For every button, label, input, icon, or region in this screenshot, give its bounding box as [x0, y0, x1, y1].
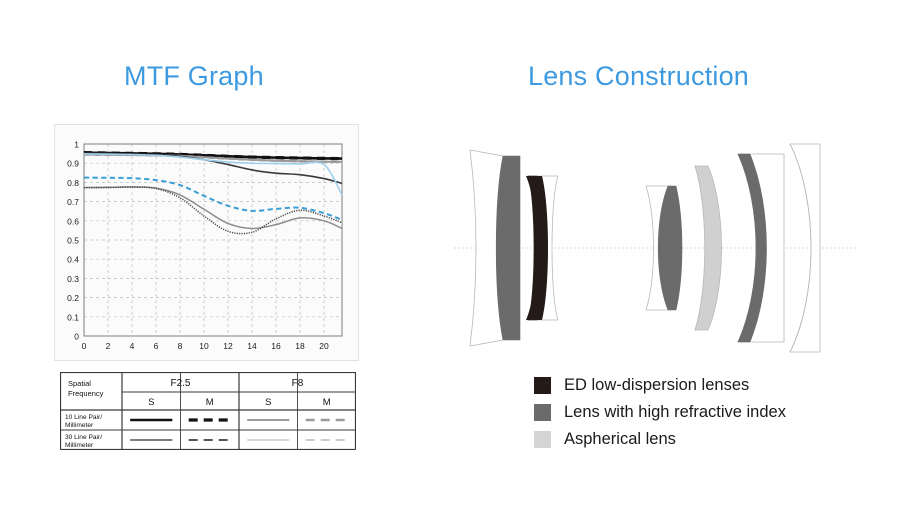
square-swatch-dark-icon [534, 377, 551, 394]
legend-sub-header: M [206, 397, 214, 408]
slide-canvas: MTF Graph Lens Construction 00.10.20.30.… [0, 0, 900, 506]
y-tick-label: 0.1 [67, 312, 79, 322]
x-tick-label: 14 [247, 341, 257, 351]
square-swatch-mid-icon [534, 404, 551, 421]
y-tick-label: 0.4 [67, 255, 79, 265]
x-tick-label: 12 [223, 341, 233, 351]
lens-element-1-high-refractive [470, 150, 520, 346]
legend-row-label: 10 Line Pair/ [65, 414, 102, 421]
legend-item: Aspherical lens [534, 428, 786, 450]
chart-gridlines [84, 144, 342, 336]
legend-row-label: Millimeter [65, 442, 94, 449]
legend-row-label: 30 Line Pair/ [65, 434, 102, 441]
legend-group-header: F2.5 [170, 378, 190, 389]
x-tick-label: 2 [106, 341, 111, 351]
chart-series-group [84, 153, 342, 234]
y-tick-label: 0.6 [67, 216, 79, 226]
page-title-mtf-graph: MTF Graph [124, 61, 264, 92]
mtf-chart-svg: 00.10.20.30.40.50.60.70.80.91 0246810121… [54, 124, 359, 361]
chart-series-line [84, 187, 342, 234]
x-tick-label: 20 [319, 341, 329, 351]
legend-item: ED low-dispersion lenses [534, 374, 786, 396]
legend-row-label: Millimeter [65, 422, 94, 429]
legend-table-border [61, 373, 356, 450]
x-tick-label: 16 [271, 341, 281, 351]
legend-item-label: ED low-dispersion lenses [564, 376, 749, 394]
chart-series-line [84, 178, 342, 220]
y-tick-label: 1 [74, 140, 79, 150]
legend-corner-label: Frequency [68, 389, 104, 398]
mtf-legend-table: SpatialFrequencyF2.5F8SMSM10 Line Pair/M… [60, 372, 356, 450]
chart-y-tick-labels: 00.10.20.30.40.50.60.70.80.91 [67, 140, 79, 342]
lens-material-legend: ED low-dispersion lenses Lens with high … [534, 374, 786, 450]
square-swatch-light-icon [534, 431, 551, 448]
legend-group-header: F8 [292, 378, 304, 389]
x-tick-label: 4 [130, 341, 135, 351]
x-tick-label: 6 [154, 341, 159, 351]
legend-item: Lens with high refractive index [534, 401, 786, 423]
y-tick-label: 0.8 [67, 178, 79, 188]
y-tick-label: 0.7 [67, 197, 79, 207]
x-tick-label: 18 [295, 341, 305, 351]
x-tick-label: 8 [178, 341, 183, 351]
legend-sub-header: S [148, 397, 154, 408]
lens-element-5-high-refractive [738, 154, 784, 342]
legend-sub-header: S [265, 397, 271, 408]
x-tick-label: 0 [82, 341, 87, 351]
legend-item-label: Aspherical lens [564, 430, 676, 448]
y-tick-label: 0 [74, 332, 79, 342]
y-tick-label: 0.3 [67, 274, 79, 284]
page-title-lens-construction: Lens Construction [528, 61, 749, 92]
legend-sub-header: M [323, 397, 331, 408]
legend-corner-label: Spatial [68, 379, 91, 388]
lens-construction-diagram [450, 128, 860, 368]
y-tick-label: 0.2 [67, 293, 79, 303]
y-tick-label: 0.5 [67, 236, 79, 246]
y-tick-label: 0.9 [67, 159, 79, 169]
chart-x-tick-labels: 02468101214161820 [82, 341, 329, 351]
legend-item-label: Lens with high refractive index [564, 403, 786, 421]
x-tick-label: 10 [199, 341, 209, 351]
